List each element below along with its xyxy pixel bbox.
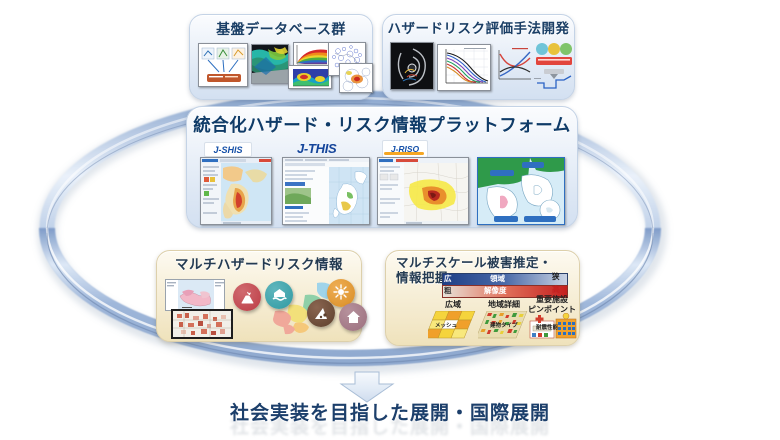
thumbnail-flow-diagram[interactable]	[198, 43, 248, 87]
scale-right-top-label: 狭	[552, 271, 560, 282]
thumbnail-velocity-profile-chart[interactable]	[293, 42, 329, 66]
thumbnail-jrisq-realtime-damage-map[interactable]	[377, 157, 469, 225]
building-damage-icon[interactable]	[339, 303, 367, 331]
figure-canvas: 基盤データベース群	[0, 0, 780, 440]
logo-j-this[interactable]: J-THIS	[297, 141, 336, 156]
panel-platform[interactable]: 統合化ハザード・リスク情報プラットフォーム J-SHIS J-THIS J-RI…	[186, 106, 578, 228]
panel-platform-title: 統合化ハザード・リスク情報プラットフォーム	[187, 115, 577, 136]
panel-method-title: ハザードリスク評価手法開発	[383, 21, 574, 37]
scale-center-top-label: 領域	[490, 273, 505, 284]
thumbnail-fragility-curve-chart[interactable]	[437, 44, 491, 91]
panel-database-title: 基盤データベース群	[190, 21, 372, 38]
panel-multihazard-title: マルチハザードリスク情報	[157, 257, 361, 273]
multiscale-col1-sub: メッシュ	[435, 321, 457, 329]
thumbnail-japan-hazard-index-map[interactable]	[165, 279, 225, 311]
logo-j-risq-underline	[384, 152, 424, 155]
scale-center-bottom-label: 解像度	[484, 285, 507, 296]
scale-right-bottom-label: 高	[552, 284, 560, 295]
panel-multihazard[interactable]: マルチハザードリスク情報	[156, 250, 362, 342]
volcano-icon[interactable]	[233, 283, 261, 311]
multiscale-col1-label: 広域	[430, 299, 476, 310]
logo-j-risq[interactable]: J-RISQ	[382, 140, 428, 158]
thumbnail-seismic-tomography-map[interactable]	[251, 44, 289, 84]
logo-j-shis-text: J-SHIS	[213, 145, 242, 155]
logo-j-shis[interactable]: J-SHIS	[204, 142, 252, 157]
thumbnail-typhoon-satellite-image[interactable]	[390, 42, 434, 90]
tsunami-icon[interactable]	[265, 281, 293, 309]
panel-database[interactable]: 基盤データベース群	[189, 14, 373, 100]
thumbnail-jthis-tsunami-hazard-map[interactable]	[282, 157, 370, 225]
thumbnail-jshis-seismic-hazard-map[interactable]	[200, 157, 272, 225]
scale-left-bottom-label: 粗	[444, 285, 452, 296]
panel-multiscale[interactable]: マルチスケール被害推定・ 情報把握 広 粗 領域 解像度 狭 高 広域	[385, 250, 580, 346]
thumbnail-regional-forecast-map[interactable]	[477, 157, 565, 225]
multiscale-col3-label: 重要施設 ピンポイント	[526, 295, 578, 314]
thumbnail-risk-workflow-diagram[interactable]	[533, 41, 573, 91]
scale-left-top-label: 広	[444, 273, 452, 284]
thumbnail-regional-hazard-map[interactable]	[339, 63, 373, 93]
thumbnail-spectral-profile-chart[interactable]	[288, 65, 332, 89]
multiscale-col2-sub: 建物タイプ	[490, 321, 518, 329]
landslide-icon[interactable]	[307, 299, 335, 327]
multiscale-col2-label: 地域詳細	[478, 299, 530, 310]
thumbnail-cost-benefit-curve-chart[interactable]	[493, 45, 533, 85]
multiscale-col3-sub: 耐震性能	[536, 323, 558, 331]
footer-caption: 社会実装を目指した展開・国際展開	[0, 398, 780, 425]
panel-method[interactable]: ハザードリスク評価手法開発	[382, 14, 575, 100]
thumbnail-urban-risk-detail-map[interactable]	[171, 309, 233, 339]
logo-j-this-text: J-THIS	[297, 141, 336, 156]
